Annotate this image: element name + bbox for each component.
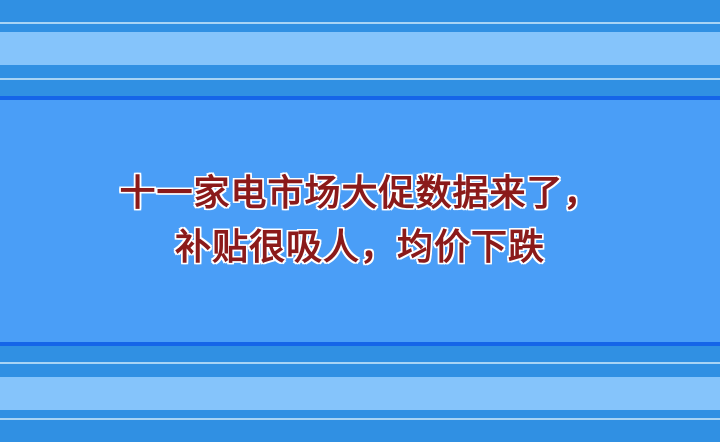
bottom-stripe-medium-3 bbox=[0, 410, 720, 418]
title-banner: 十一家电市场大促数据来了， 补贴很吸人，均价下跌 bbox=[0, 0, 720, 442]
bottom-stripe-medium-4 bbox=[0, 420, 720, 442]
top-stripe-medium-1 bbox=[0, 0, 720, 22]
headline-line-1: 十一家电市场大促数据来了， bbox=[119, 174, 600, 214]
top-stripe-medium-2 bbox=[0, 24, 720, 32]
top-stripe-medium-3 bbox=[0, 65, 720, 78]
top-stripe-medium-4 bbox=[0, 80, 720, 96]
bottom-stripe-medium-2 bbox=[0, 364, 720, 377]
bottom-stripe-light bbox=[0, 377, 720, 410]
headline-line-2: 补贴很吸人，均价下跌 bbox=[175, 228, 545, 268]
headline-block: 十一家电市场大促数据来了， 补贴很吸人，均价下跌 bbox=[0, 100, 720, 342]
bottom-stripe-medium-1 bbox=[0, 346, 720, 362]
top-stripe-light bbox=[0, 32, 720, 65]
